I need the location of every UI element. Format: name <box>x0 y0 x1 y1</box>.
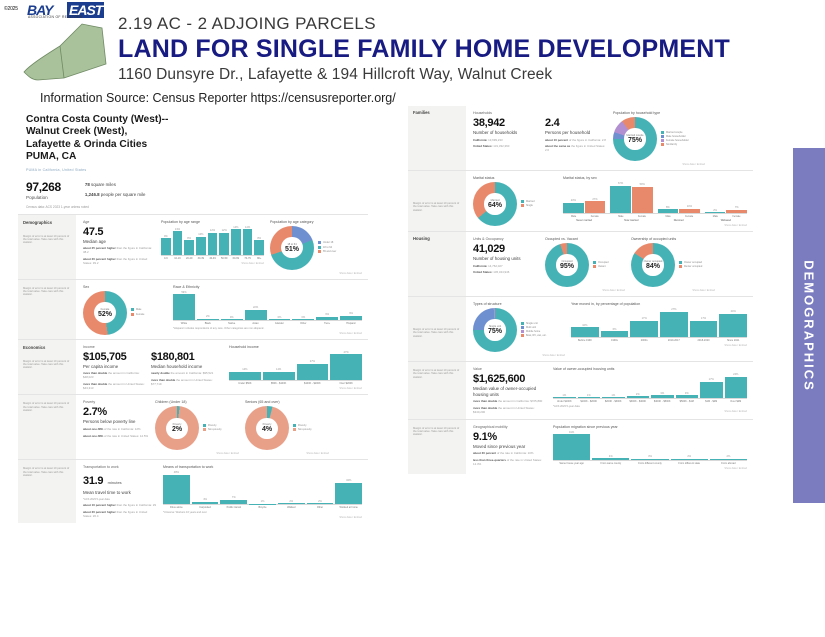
population-value: 97,268 <box>26 180 61 194</box>
bar-item: 4% <box>592 431 629 460</box>
stat-number: 47.5 <box>83 226 155 238</box>
geography-header: Contra Costa County (West)--Walnut Creek… <box>18 106 368 214</box>
chart-source-link[interactable]: Show data / Embed <box>173 332 362 335</box>
area-value: 78 <box>85 182 90 187</box>
bar-chart-area: 48%4%7%1%2%2%34% <box>163 471 362 505</box>
bar <box>602 397 625 398</box>
page-title: LAND FOR SINGLE FAMILY HOME DEVELOPMENT <box>118 35 818 64</box>
bar-item: 2% <box>278 471 305 504</box>
bar-item: 0% <box>269 291 291 320</box>
x-axis-tick: Male <box>563 215 584 218</box>
bar-item: 3% <box>631 431 668 460</box>
donut-chart: Married couple 75% <box>613 117 657 161</box>
legend-swatch <box>521 334 524 337</box>
bar <box>679 209 700 213</box>
legend-swatch <box>318 241 321 244</box>
stat-number: 38,942 <box>473 117 539 129</box>
x-axis-tick: Same house year ago <box>553 462 590 465</box>
bar-item: 1% <box>553 373 576 398</box>
chart-title: Types of structure <box>473 302 565 306</box>
chart-legend: PovertyNon-poverty <box>293 424 312 432</box>
stat-compare-rest: 145,344,946 <box>493 270 509 274</box>
stat-compare-bold: United States: <box>473 270 492 274</box>
bar-item: 91% <box>553 431 590 460</box>
bar <box>197 319 219 320</box>
x-axis-tick: Carpooled <box>192 506 219 509</box>
stat-compare-bold: more than double <box>473 399 497 403</box>
margin-of-error-note: Margin of error is at least 10 percent o… <box>413 202 462 212</box>
chart-legend: Owner occupiedRenter occupied <box>679 261 702 269</box>
census-report-page-right: Families Households 38,942 Number of hou… <box>408 106 753 634</box>
margin-of-error-note: Margin of error is at least 10 percent o… <box>413 427 462 437</box>
x-axis-tick: 60-69 <box>231 257 241 260</box>
bar-item: 3% <box>651 373 674 398</box>
x-axis-tick: Over $2M <box>725 400 748 403</box>
stat-compare-rest: 131,332,360 <box>493 144 509 148</box>
stat-kicker: Geographical mobility <box>473 425 547 429</box>
x-axis-tick: Drive alone <box>163 506 190 509</box>
chart-occupied-vs-vacant: Occupied vs. Vacant Occupied 95% Occupie… <box>545 237 625 292</box>
legend-swatch <box>203 428 206 431</box>
bar-item: 47% <box>330 351 362 380</box>
x-axis-tick: Male <box>658 215 679 218</box>
bar-item: 1% <box>578 373 601 398</box>
x-axis-tick: Under $100K <box>553 400 576 403</box>
margin-of-error-note: Margin of error is at least 10 percent o… <box>23 360 72 370</box>
bar <box>316 317 338 320</box>
chart-source-link[interactable]: Show data / Embed <box>553 467 747 470</box>
x-axis-tick: 20-29 <box>184 257 194 260</box>
x-axis-tick: Female <box>584 215 605 218</box>
bar-item: 14% <box>229 351 261 380</box>
section-economics-income: Economics Margin of error is at least 10… <box>18 340 368 395</box>
bar-item: 59% <box>632 182 653 213</box>
donut-chart: Owner occupied 84% <box>631 243 675 287</box>
bar-item: 10% <box>196 226 206 255</box>
chart-poverty-children: Children (Under 18) Poverty 2% PovertyNo… <box>155 400 239 455</box>
bar-item: 27% <box>585 182 606 213</box>
donut-center-value: 64% <box>488 202 502 209</box>
bar <box>196 237 206 255</box>
bar-item: 0% <box>292 291 314 320</box>
x-axis-tick: Public transit <box>220 506 247 509</box>
chart-marital-status: Marital status Married 64% MarriedSingle <box>473 176 557 227</box>
chart-source-link[interactable]: Show data / Embed <box>270 272 362 275</box>
stat-caption: Number of households <box>473 130 539 136</box>
bar-item: 2% <box>307 471 334 504</box>
chart-source-link[interactable]: Show data / Embed <box>161 262 264 265</box>
chart-footnote: *Universe: Workers 16 years and over <box>163 511 362 514</box>
section-families-marital: Margin of error is at least 10 percent o… <box>408 171 753 231</box>
bar <box>229 372 261 380</box>
bar <box>263 372 295 380</box>
legend-swatch <box>521 322 524 325</box>
stat-poverty: Poverty 2.7% Persons below poverty line … <box>83 400 149 455</box>
x-axis-tick: $500K - $1M <box>676 400 699 403</box>
stat-number: 41,029 <box>473 243 539 255</box>
chart-source-link[interactable]: Show data / Embed <box>553 410 747 413</box>
demographics-side-tab[interactable]: DEMOGRAPHICS <box>793 148 825 503</box>
legend-swatch <box>661 131 664 134</box>
bar-group: 23%27% <box>563 182 605 213</box>
legend-item: Renter occupied <box>679 265 702 269</box>
bar-group-label: MaleFemaleDivorced <box>658 215 700 222</box>
bar <box>631 459 668 460</box>
section-label-spacer: Margin of error is at least 10 percent o… <box>408 420 466 474</box>
stat-caption: Median value of owner-occupied housing u… <box>473 386 547 397</box>
chart-source-link[interactable]: Show data / Embed <box>229 387 362 390</box>
section-housing-value: Margin of error is at least 10 percent o… <box>408 362 753 419</box>
bar-item: 7% <box>726 182 747 213</box>
x-axis-tick: $100K - $200K <box>578 400 601 403</box>
bar <box>627 396 650 398</box>
x-axis-labels: Before 19901990s2000s2010-20172018-2020S… <box>571 339 747 342</box>
x-axis-tick: 0-9 <box>161 257 171 260</box>
x-axis-tick: Islander <box>269 322 291 325</box>
section-families-households: Families Households 38,942 Number of hou… <box>408 106 753 170</box>
bar <box>173 294 195 320</box>
donut-center-value: 84% <box>646 263 660 270</box>
bar-item: 13% <box>173 226 183 255</box>
bar-item: 17% <box>700 373 723 398</box>
bar <box>161 238 171 254</box>
property-address: 1160 Dunsyre Dr., Lafayette & 194 Hillcr… <box>118 66 818 84</box>
bar <box>660 312 688 338</box>
bar-group: 2%7% <box>705 182 747 213</box>
chart-source-link[interactable]: Show data / Embed <box>155 452 239 455</box>
bar <box>184 240 194 255</box>
bar-item: 14% <box>263 351 295 380</box>
x-axis-group-tick: Widowed <box>705 219 747 222</box>
bar-chart-area: 91%4%3%2%2% <box>553 431 747 461</box>
bar <box>249 504 276 505</box>
chart-source-link[interactable]: Show data / Embed <box>613 163 705 166</box>
section-name: Families <box>413 110 462 115</box>
stat-compare-bold: about 10 percent <box>545 138 568 142</box>
donut-center-value: 75% <box>488 328 502 335</box>
bar-item: 9% <box>340 291 362 320</box>
chart-title: Means of transportation to work <box>163 465 362 469</box>
bar-item: 8% <box>254 226 264 255</box>
geography-title: Contra Costa County (West)--Walnut Creek… <box>26 114 360 164</box>
chart-footnote: *ACS 2023 5-year data <box>553 405 747 408</box>
density-value: 1,246.8 <box>85 192 100 197</box>
bar <box>700 382 723 398</box>
chart-title: Population by household type <box>613 111 705 115</box>
chart-title: Race & Ethnicity <box>173 285 362 289</box>
stat-kicker: Age <box>83 220 155 224</box>
chart-title: Children (Under 18) <box>155 400 239 404</box>
bar-item: 14% <box>243 226 253 255</box>
legend-swatch <box>661 139 664 142</box>
bar <box>163 475 190 505</box>
x-axis-tick: $200K - $300K <box>602 400 625 403</box>
bar <box>220 500 247 504</box>
bar-item: 48% <box>163 471 190 504</box>
section-label-demographics: Demographics Margin of error is at least… <box>18 215 76 279</box>
bar <box>335 483 362 505</box>
chart-title: Year moved in, by percentage of populati… <box>571 302 747 306</box>
x-axis-tick: 2010-2017 <box>660 339 688 342</box>
x-axis-tick: $400K - $500K <box>651 400 674 403</box>
bar <box>725 377 748 399</box>
x-axis-tick: 50-59 <box>219 257 229 260</box>
bar <box>578 397 601 398</box>
stat-number: 9.1% <box>473 431 547 443</box>
bar <box>610 186 631 214</box>
stat-median-age: Age 47.5 Median age about 25 percent hig… <box>83 220 155 275</box>
bar <box>726 210 747 213</box>
stat-households: Households 38,942 Number of households C… <box>473 111 539 166</box>
chart-source-link[interactable]: Show data / Embed <box>545 289 625 292</box>
margin-of-error-note: Margin of error is at least 10 percent o… <box>23 402 72 412</box>
chart-population-by-age-category: Population by age category 18 to 64 51% … <box>270 220 362 275</box>
stat-kicker: Value <box>473 367 547 371</box>
census-data-note: Census data: ACS 2023 1-year unless note… <box>26 205 360 209</box>
margin-of-error-note: Margin of error is at least 10 percent o… <box>23 287 72 297</box>
chart-race-ethnicity: Race & Ethnicity 59%2%0%22%0%0%6%9% Whit… <box>173 285 362 335</box>
stat-compare-bold: about one-fifth <box>83 434 103 438</box>
bar-item: 67% <box>610 182 631 213</box>
bar-item: 2% <box>705 182 726 213</box>
x-axis-group-tick: Never married <box>563 219 605 222</box>
demographics-side-tab-label: DEMOGRAPHICS <box>802 260 817 392</box>
bar-item: 9% <box>161 226 171 255</box>
bar-item: 14% <box>231 226 241 255</box>
chart-legend: OccupiedVacant <box>593 261 609 269</box>
bar-group-label: MaleFemaleNow married <box>610 215 652 222</box>
bar-item: 6% <box>316 291 338 320</box>
bar <box>571 327 599 337</box>
bar <box>330 354 362 380</box>
bar <box>245 310 267 320</box>
x-axis-tick: 30-39 <box>196 257 206 260</box>
legend-swatch <box>679 265 682 268</box>
section-housing-mobility: Margin of error is at least 10 percent o… <box>408 420 753 474</box>
stat-unit: minutes <box>108 480 122 485</box>
bar <box>297 364 329 380</box>
population-label: Population <box>26 195 61 200</box>
donut-chart: Female 52% <box>83 291 127 335</box>
bar-item: 2% <box>710 431 747 460</box>
section-name: Economics <box>23 345 72 350</box>
area-label: square miles <box>91 182 116 187</box>
stat-kicker: Poverty <box>83 400 149 404</box>
x-axis-tick: Asian <box>245 322 267 325</box>
stat-median-home-value: Value $1,625,600 Median value of owner-o… <box>473 367 547 415</box>
chart-legend: MarriedSingle <box>521 200 534 208</box>
x-axis-labels: Drive aloneCarpooledPublic transitBicycl… <box>163 506 362 509</box>
donut-chart: Occupied 95% <box>545 243 589 287</box>
x-axis-group-tick: Now married <box>610 219 652 222</box>
bar <box>676 395 699 398</box>
legend-swatch <box>679 261 682 264</box>
x-axis-tick: Other <box>307 506 334 509</box>
bar <box>592 458 629 459</box>
stat-number: $105,705 <box>83 351 145 363</box>
bar <box>254 240 264 255</box>
stat-kicker: Households <box>473 111 539 115</box>
bar-item: 17% <box>690 308 718 337</box>
stat-kicker: Income <box>83 345 145 349</box>
bar-item: 1% <box>602 373 625 398</box>
stat-persons-per-household: 2.4 Persons per household about 10 perce… <box>545 111 607 166</box>
geography-breadcrumbs[interactable]: PUMA in California, United States <box>26 168 360 172</box>
legend-swatch <box>521 326 524 329</box>
x-axis-tick: Female <box>631 215 652 218</box>
stat-compare-bold: about 10 percent higher <box>83 503 116 507</box>
stat-compare-bold: California: <box>473 264 487 268</box>
bar <box>231 229 241 254</box>
bar-item: 59% <box>173 291 195 320</box>
bar-item: 23% <box>563 182 584 213</box>
bar <box>192 502 219 505</box>
x-axis-tick: Male <box>705 215 726 218</box>
chart-value-of-owner-occupied-units: Value of owner-occupied housing units 1%… <box>553 367 747 415</box>
bar-item: 2% <box>671 431 708 460</box>
x-axis-tick: Native <box>221 322 243 325</box>
bar <box>632 187 653 213</box>
bar <box>690 321 718 337</box>
section-demographics-race: Margin of error is at least 10 percent o… <box>18 280 368 339</box>
legend-swatch <box>593 265 596 268</box>
section-label-economics: Economics Margin of error is at least 10… <box>18 340 76 395</box>
bar-item: 27% <box>297 351 329 380</box>
stat-compare-bold: about 30 percent <box>473 451 496 455</box>
legend-swatch <box>131 308 134 311</box>
chart-title: Population by age range <box>161 220 264 224</box>
x-axis-tick: 40-49 <box>208 257 218 260</box>
stat-compare-rest: 13,699,233 <box>488 138 502 142</box>
legend-swatch <box>661 143 664 146</box>
section-name: Housing <box>413 236 462 241</box>
bar-item: 34% <box>335 471 362 504</box>
density-label: people per square mile <box>101 192 146 197</box>
chart-ownership-of-occupied-units: Ownership of occupied units Owner occupi… <box>631 237 715 292</box>
bar-group: 67%59% <box>610 182 652 213</box>
stat-kicker: Transportation to work <box>83 465 157 469</box>
bar <box>671 459 708 460</box>
stat-compare-rest: than the figure in California: 29 <box>117 503 156 507</box>
stat-compare-rest: 14,762,027 <box>488 264 502 268</box>
donut-center-value: 95% <box>560 263 574 270</box>
donut-chart: Married 64% <box>473 182 517 226</box>
stat-compare-rest: of the rate in United States: 12.5% <box>104 434 148 438</box>
margin-of-error-note: Margin of error is at least 10 percent o… <box>413 328 462 338</box>
stat-caption: Persons per household <box>545 130 607 136</box>
bar-item: 12% <box>208 226 218 255</box>
x-axis-labels: Under $50K$50K - $100K$100K - $200KOver … <box>229 382 362 385</box>
donut-center-value: 52% <box>98 311 112 318</box>
x-axis-tick: 1990s <box>601 339 629 342</box>
bar-item: 1% <box>249 471 276 504</box>
bar <box>705 212 726 213</box>
x-axis-tick: From same county <box>592 462 629 465</box>
section-label-spacer: Margin of error is at least 10 percent o… <box>408 362 466 419</box>
chart-footnote: *Hispanic includes respondents of any ra… <box>173 327 362 330</box>
legend-swatch <box>521 204 524 207</box>
donut-center-value: 51% <box>285 246 299 253</box>
chart-source-link[interactable]: Show data / Embed <box>571 344 747 347</box>
legend-swatch <box>521 200 524 203</box>
section-economics-poverty: Margin of error is at least 10 percent o… <box>18 395 368 459</box>
legend-item: Non-poverty <box>203 428 222 432</box>
x-axis-tick: $50K - $100K <box>263 382 295 385</box>
section-label-spacer: Margin of error is at least 10 percent o… <box>408 297 466 361</box>
stat-compare-rest: the amount in California: $95,521 <box>171 371 214 375</box>
bar <box>563 203 584 213</box>
bar-item: 0% <box>221 291 243 320</box>
bar-item: 10% <box>679 182 700 213</box>
acreage-eyebrow: 2.19 AC - 2 ADJOING PARCELS <box>118 14 818 34</box>
bar-item: 12% <box>219 226 229 255</box>
chart-population-by-household-type: Population by household type Married cou… <box>613 111 705 166</box>
bar-item: 6% <box>601 308 629 337</box>
donut-chart: Poverty 2% <box>155 406 199 450</box>
chart-title: Marital status <box>473 176 557 180</box>
bar <box>208 233 218 255</box>
bar <box>553 397 576 398</box>
chart-source-link[interactable]: Show data / Embed <box>563 224 747 227</box>
stat-number: 31.9 <box>83 475 103 487</box>
legend-swatch <box>521 330 524 333</box>
x-axis-labels: MaleFemaleNever marriedMaleFemaleNow mar… <box>563 215 747 222</box>
bar-group-label: MaleFemaleWidowed <box>705 215 747 222</box>
x-axis-tick: Black <box>197 322 219 325</box>
bar <box>243 229 253 254</box>
bar-chart-area: 14%14%27%47% <box>229 351 362 381</box>
chart-source-link[interactable]: Show data / Embed <box>473 354 565 357</box>
bar <box>651 395 674 398</box>
bar-item: 24% <box>719 308 747 337</box>
legend-item: Non-poverty <box>293 428 312 432</box>
section-housing-structure: Margin of error is at least 10 percent o… <box>408 297 753 361</box>
chart-source-link[interactable]: Show data / Embed <box>163 516 362 519</box>
legend-swatch <box>131 313 134 316</box>
bar <box>710 459 747 460</box>
chart-marital-status-by-sex: Marital status, by sex 23%27%67%59%8%10%… <box>563 176 747 227</box>
chart-source-link[interactable]: Show data / Embed <box>245 452 329 455</box>
stat-caption: Median household income <box>151 364 223 370</box>
legend-item: Single <box>521 204 534 208</box>
x-axis-tick: Since 2021 <box>719 339 747 342</box>
chart-population-by-age-range: Population by age range 9%13%8%10%12%12%… <box>161 220 264 275</box>
chart-poverty-seniors: Seniors (65 and over) Poverty 4% Poverty… <box>245 400 329 455</box>
bar-item: 3% <box>676 373 699 398</box>
bar <box>340 316 362 320</box>
donut-chart: Poverty 4% <box>245 406 289 450</box>
chart-source-link[interactable]: Show data / Embed <box>631 289 715 292</box>
chart-title: Sex <box>83 285 167 289</box>
chart-legend: Single unitMulti unitMobile homeBoat, RV… <box>521 322 547 339</box>
x-axis-tick: From different county <box>631 462 668 465</box>
x-axis-group-tick: Divorced <box>658 219 700 222</box>
bar <box>219 233 229 255</box>
x-axis-labels: Under $100K$100K - $200K$200K - $300K$30… <box>553 400 747 403</box>
chart-legend: Under 1818 to 6465 and over <box>318 241 336 253</box>
stat-compare-bold: about one-fifth <box>83 427 103 431</box>
legend-swatch <box>318 250 321 253</box>
bar-chart-area: 59%2%0%22%0%0%6%9% <box>173 291 362 321</box>
legend-item: Nonfamily <box>661 143 689 147</box>
chart-title: Occupied vs. Vacant <box>545 237 625 241</box>
chart-title: Marital status, by sex <box>563 176 747 180</box>
bar-group-label: MaleFemaleNever married <box>563 215 605 222</box>
copyright-text: ©2025 <box>4 6 18 12</box>
stat-caption: Mean travel time to work <box>83 490 157 496</box>
x-axis-tick: Female <box>726 215 747 218</box>
stat-compare-bold: nearly double <box>151 371 170 375</box>
